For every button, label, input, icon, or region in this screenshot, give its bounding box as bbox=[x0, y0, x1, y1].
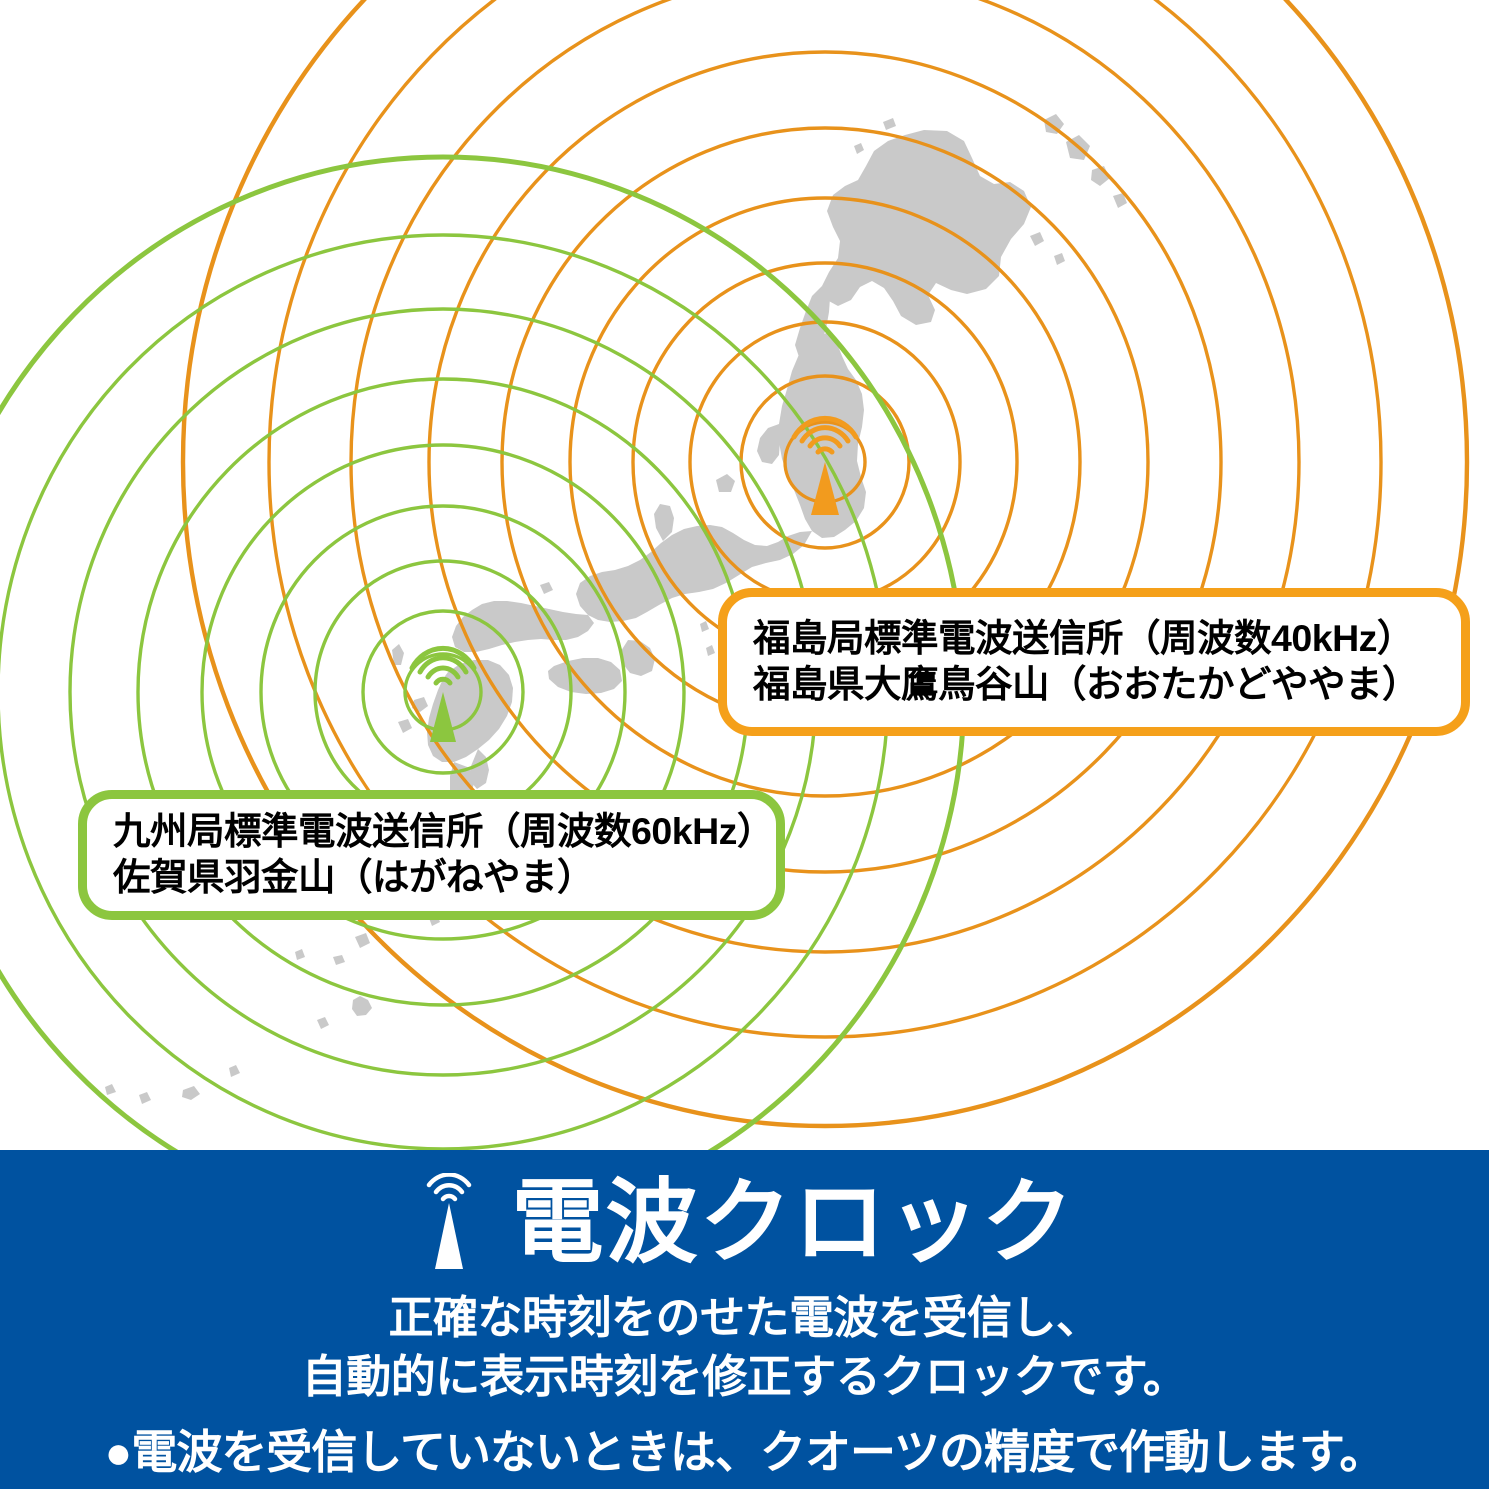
fukushima-coverage-rings bbox=[183, 0, 1467, 1126]
callout-kyushu-line1: 九州局標準電波送信所（周波数60kHz） bbox=[113, 809, 776, 855]
banner-description-line1: 正確な時刻をのせた電波を受信し、 bbox=[0, 1288, 1489, 1347]
callout-kyushu-line2: 佐賀県羽金山（はがねやま） bbox=[113, 855, 776, 901]
banner-title-row: 電波クロック bbox=[0, 1150, 1489, 1284]
page-root: 福島局標準電波送信所（周波数40kHz） 福島県大鷹鳥谷山（おおたかどややま） … bbox=[0, 0, 1489, 1489]
radio-tower-icon bbox=[413, 1173, 485, 1273]
callout-kyushu-station: 九州局標準電波送信所（周波数60kHz） 佐賀県羽金山（はがねやま） bbox=[78, 790, 785, 920]
callout-fukushima-station: 福島局標準電波送信所（周波数40kHz） 福島県大鷹鳥谷山（おおたかどややま） bbox=[718, 588, 1470, 736]
callout-fukushima-line1: 福島局標準電波送信所（周波数40kHz） bbox=[753, 616, 1461, 662]
radio-clock-banner: 電波クロック 正確な時刻をのせた電波を受信し、 自動的に表示時刻を修正するクロッ… bbox=[0, 1150, 1489, 1489]
banner-title: 電波クロック bbox=[511, 1177, 1075, 1269]
callout-fukushima-line2: 福島県大鷹鳥谷山（おおたかどややま） bbox=[753, 662, 1461, 708]
japan-radio-coverage-map: 福島局標準電波送信所（周波数40kHz） 福島県大鷹鳥谷山（おおたかどややま） … bbox=[0, 0, 1489, 1150]
fukushima-outer-ring bbox=[183, 0, 1467, 1126]
banner-note: ●電波を受信していないときは、クオーツの精度で作動します。 bbox=[0, 1427, 1489, 1478]
map-svg bbox=[0, 0, 1489, 1150]
banner-description-line2: 自動的に表示時刻を修正するクロックです。 bbox=[0, 1347, 1489, 1406]
banner-description: 正確な時刻をのせた電波を受信し、 自動的に表示時刻を修正するクロックです。 bbox=[0, 1288, 1489, 1407]
